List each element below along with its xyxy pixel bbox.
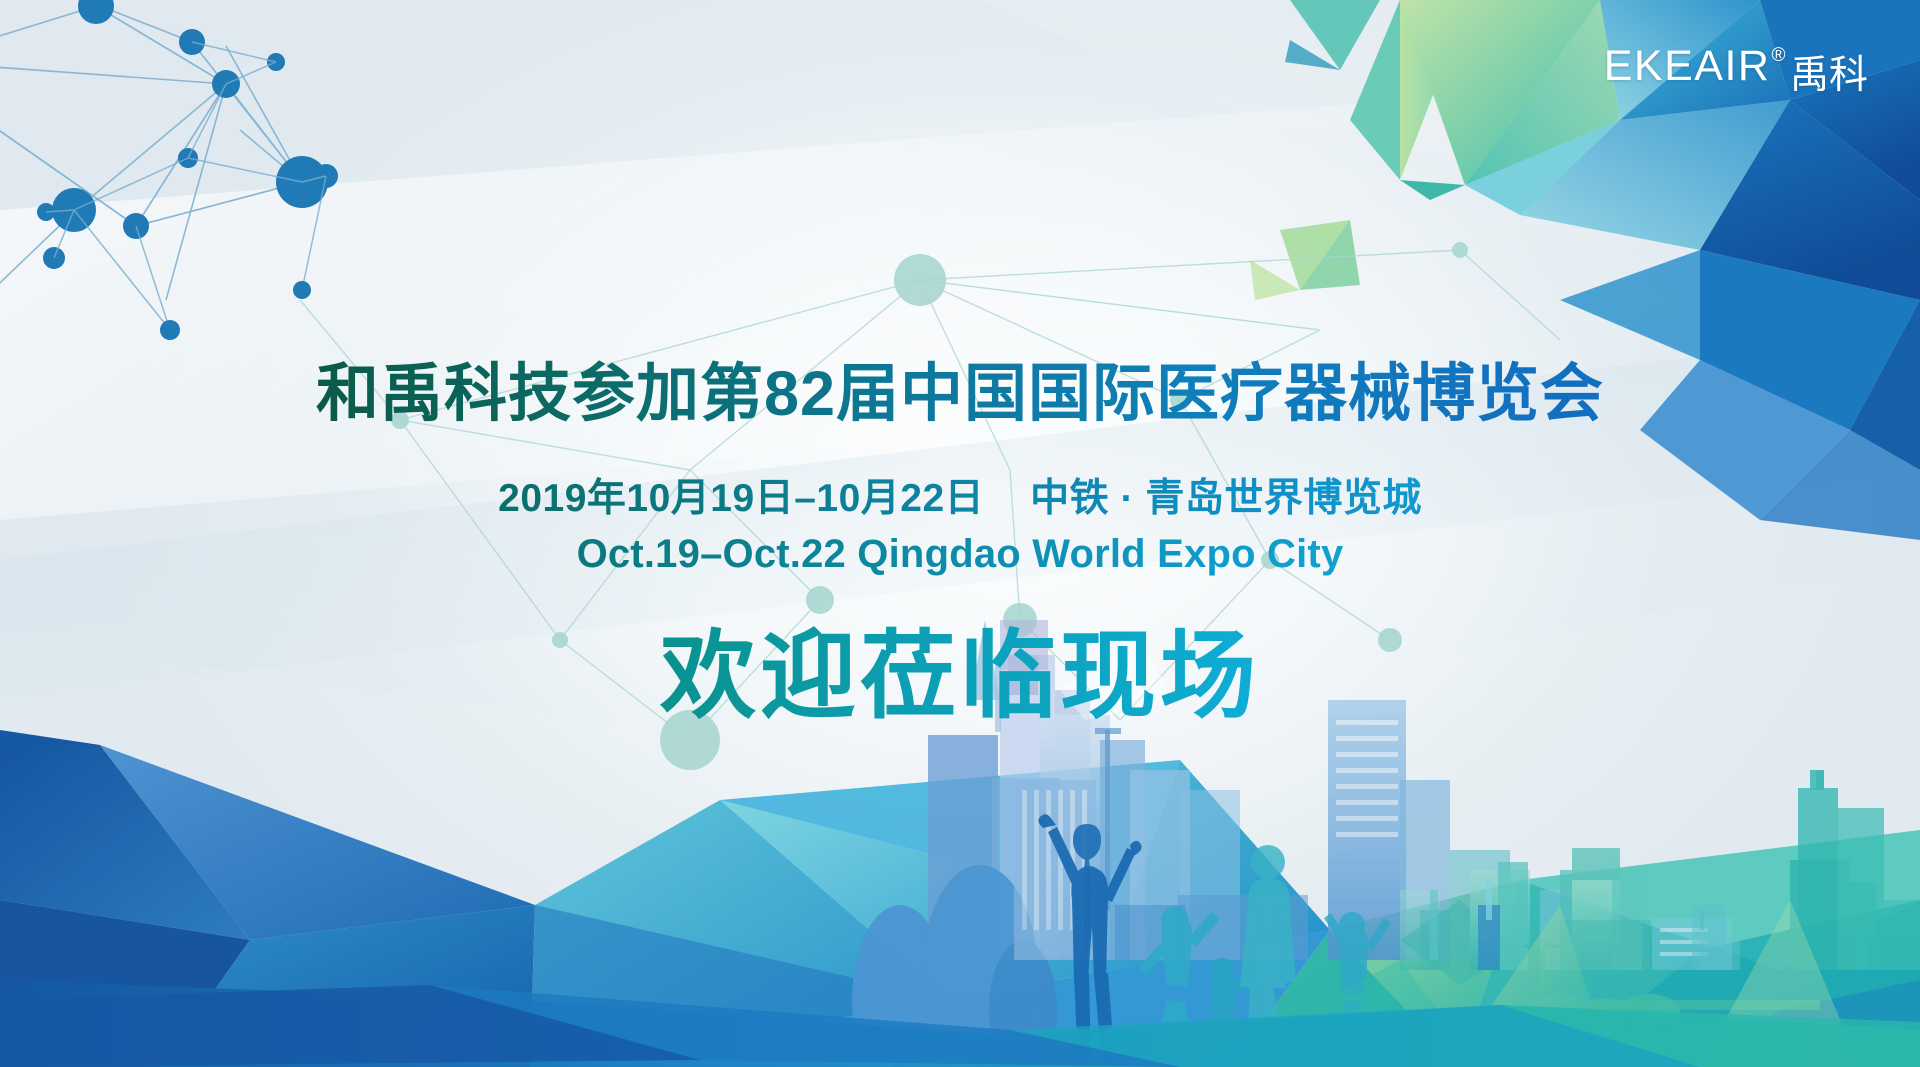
event-banner: EKEAIR®禹科 和禹科技参加第82届中国国际医疗器械博览会 2019年10月… [0,0,1920,1067]
foreground-polygon-band [0,0,1920,1067]
